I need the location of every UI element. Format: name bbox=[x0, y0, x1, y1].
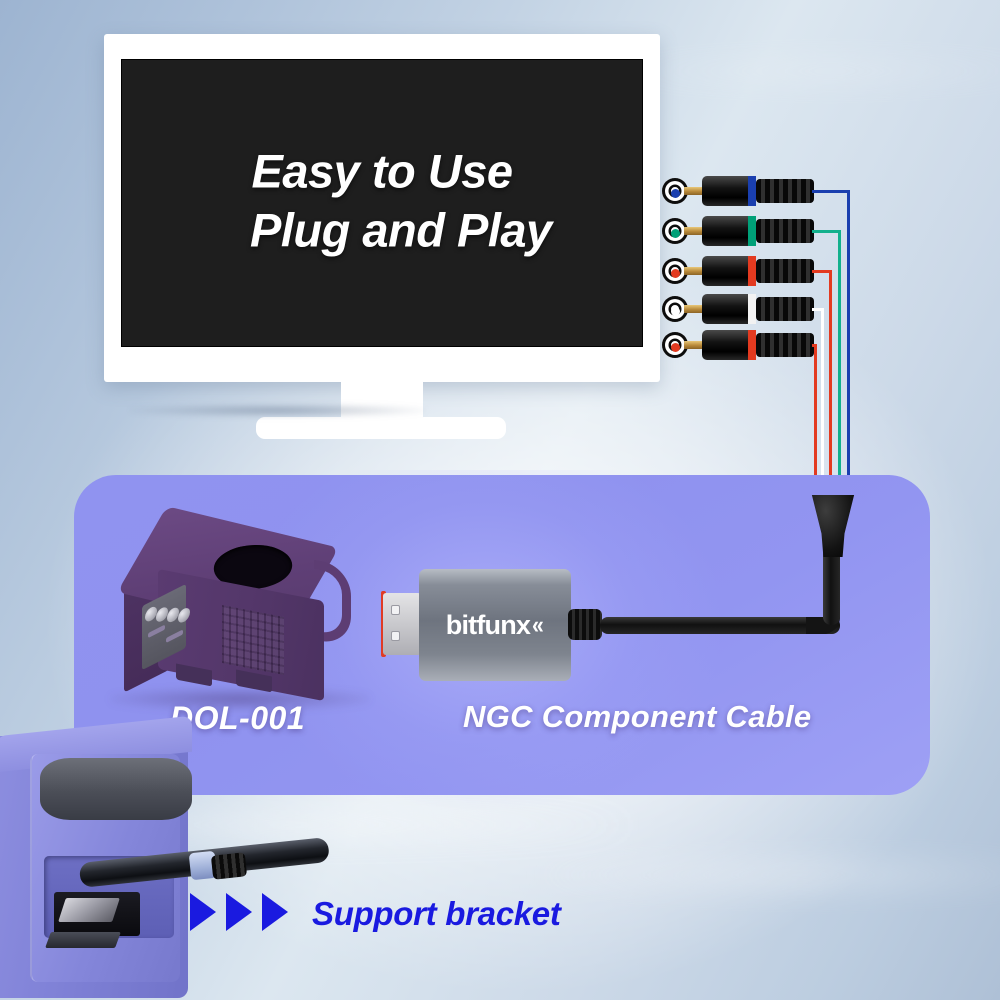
rca-connector bbox=[662, 176, 814, 206]
wire-blue-vertical bbox=[847, 190, 850, 508]
brand-text: bitfunx bbox=[446, 610, 530, 641]
adapter-cable-grommet bbox=[568, 609, 602, 640]
plug-notch bbox=[391, 605, 400, 615]
rca-connector bbox=[662, 330, 814, 360]
tv-base bbox=[256, 417, 506, 439]
rca-connector bbox=[662, 256, 814, 286]
gamecube-console bbox=[118, 527, 368, 699]
rca-connector bbox=[662, 216, 814, 246]
adapter-console-plug bbox=[383, 593, 421, 655]
rca-color-band bbox=[748, 256, 756, 286]
rca-strain-relief bbox=[756, 297, 814, 321]
support-bracket bbox=[45, 932, 121, 948]
adapter-brand-logo: bitfunx« bbox=[419, 569, 571, 681]
console-vent-grille bbox=[222, 605, 284, 675]
rca-strain-relief bbox=[756, 333, 814, 357]
wire-blue-horizontal bbox=[812, 190, 850, 193]
background-light-streak bbox=[520, 860, 1000, 890]
wire-green-vertical bbox=[838, 230, 841, 508]
arrow-chevron-icon bbox=[226, 893, 252, 931]
bitfunx-adapter: bitfunx« bbox=[383, 569, 583, 681]
rca-ring-core bbox=[671, 307, 680, 316]
plug-notch bbox=[391, 631, 400, 641]
rca-color-band bbox=[748, 330, 756, 360]
memory-card-slot bbox=[148, 624, 165, 638]
arrow-chevron-icon bbox=[190, 893, 216, 931]
rca-ring-core bbox=[671, 343, 680, 352]
memory-card-slot bbox=[166, 629, 183, 643]
controller-port bbox=[156, 605, 168, 624]
arrow-chevron-icon bbox=[262, 893, 288, 931]
controller-port bbox=[167, 605, 179, 624]
wire-red-vertical bbox=[829, 270, 832, 508]
console-rear-closeup bbox=[0, 726, 318, 1000]
television: Easy to Use Plug and Play bbox=[104, 34, 660, 424]
callout-arrows bbox=[190, 893, 305, 933]
cable-horizontal-run bbox=[600, 617, 840, 634]
rca-color-band bbox=[748, 294, 756, 324]
controller-port bbox=[145, 605, 157, 624]
product-marketing-image: Easy to Use Plug and Play bbox=[0, 0, 1000, 1000]
rca-color-band bbox=[748, 216, 756, 246]
background-light-streak bbox=[600, 60, 1000, 82]
brand-chevron-icon: « bbox=[532, 611, 543, 640]
closeup-cable-ribs bbox=[211, 852, 247, 879]
rca-strain-relief bbox=[756, 259, 814, 283]
rca-strain-relief bbox=[756, 219, 814, 243]
cable-caption: NGC Component Cable bbox=[463, 699, 811, 735]
rca-color-band bbox=[748, 176, 756, 206]
tv-headline: Easy to Use Plug and Play bbox=[122, 141, 642, 259]
rca-ring-core bbox=[671, 269, 680, 278]
cable-vertical-run bbox=[823, 545, 840, 625]
rca-connector-group bbox=[662, 176, 822, 342]
support-bracket-label: Support bracket bbox=[312, 895, 561, 933]
wire-green-horizontal bbox=[812, 230, 841, 233]
tv-base-shadow bbox=[130, 404, 426, 417]
closeup-carry-handle bbox=[40, 758, 192, 820]
rca-ring-core bbox=[671, 229, 680, 238]
rca-connector bbox=[662, 294, 814, 324]
rca-strain-relief bbox=[756, 179, 814, 203]
tv-screen: Easy to Use Plug and Play bbox=[121, 59, 643, 347]
closeup-port-contacts bbox=[58, 898, 120, 922]
rca-ring-core bbox=[671, 189, 680, 198]
